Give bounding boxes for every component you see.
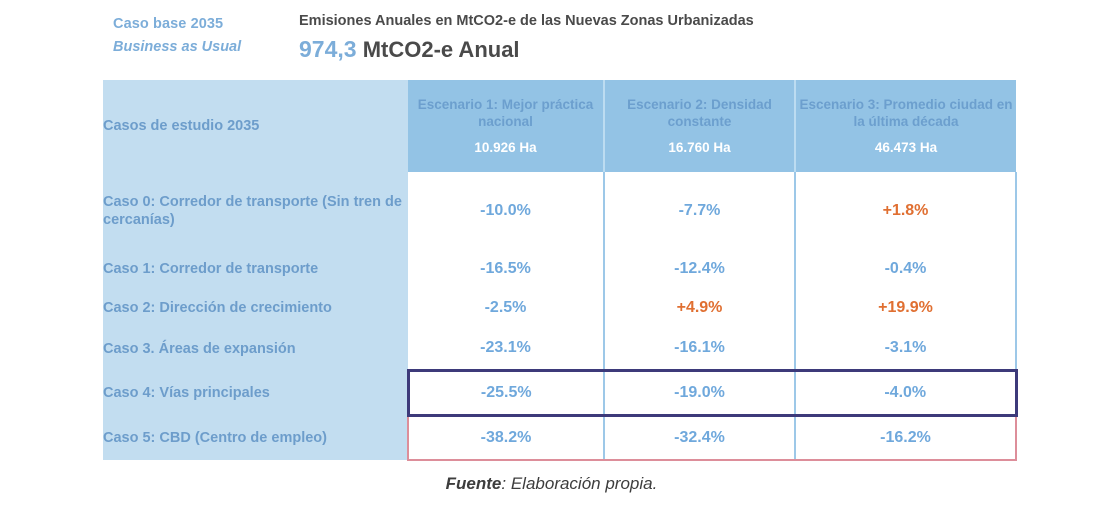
table-row: Caso 2: Dirección de crecimiento-2.5%+4.…	[103, 289, 1016, 328]
scenarios-table-wrapper: Casos de estudio 2035 Escenario 1: Mejor…	[103, 80, 1016, 461]
value-cell: -2.5%	[408, 289, 604, 328]
column-header-area: 10.926 Ha	[408, 139, 603, 156]
row-label: Caso 1: Corredor de transporte	[103, 250, 408, 289]
value-cell: -25.5%	[408, 370, 604, 415]
value-cell: -0.4%	[795, 250, 1016, 289]
row-label: Caso 0: Corredor de transporte (Sin tren…	[103, 172, 408, 250]
source-text: : Elaboración propia.	[501, 474, 657, 493]
value-cell: +4.9%	[604, 289, 795, 328]
title-block: Emisiones Anuales en MtCO2-e de las Nuev…	[295, 10, 1013, 68]
table-header-row: Casos de estudio 2035 Escenario 1: Mejor…	[103, 80, 1016, 172]
value-cell: -12.4%	[604, 250, 795, 289]
source-note: Fuente: Elaboración propia.	[0, 474, 1103, 494]
column-header-area: 46.473 Ha	[796, 139, 1016, 156]
column-header-escenario-1: Escenario 1: Mejor práctica nacional 10.…	[408, 80, 604, 172]
row-label: Caso 3. Áreas de expansión	[103, 328, 408, 370]
source-label: Fuente	[446, 474, 502, 493]
column-header-name: Escenario 3: Promedio ciudad en la últim…	[796, 96, 1016, 130]
baseline-value: 974,3	[299, 36, 357, 62]
baseline-value-line: 974,3 MtCO2-e Anual	[299, 32, 1013, 68]
value-cell: -3.1%	[795, 328, 1016, 370]
value-cell: -16.2%	[795, 416, 1016, 460]
column-header-name: Escenario 1: Mejor práctica nacional	[408, 96, 603, 130]
base-case-sublabel: Business as Usual	[113, 36, 295, 59]
column-header-escenario-3: Escenario 3: Promedio ciudad en la últim…	[795, 80, 1016, 172]
value-cell: +19.9%	[795, 289, 1016, 328]
row-header-corner-label: Casos de estudio 2035	[103, 80, 408, 172]
table-row: Caso 3. Áreas de expansión-23.1%-16.1%-3…	[103, 328, 1016, 370]
row-label: Caso 4: Vías principales	[103, 370, 408, 415]
base-case-block: Caso base 2035 Business as Usual	[113, 10, 295, 59]
table-row: Caso 1: Corredor de transporte-16.5%-12.…	[103, 250, 1016, 289]
base-case-label: Caso base 2035	[113, 13, 295, 36]
value-cell: -16.5%	[408, 250, 604, 289]
value-cell: +1.8%	[795, 172, 1016, 250]
value-cell: -7.7%	[604, 172, 795, 250]
value-cell: -4.0%	[795, 370, 1016, 415]
value-cell: -10.0%	[408, 172, 604, 250]
figure-root: Caso base 2035 Business as Usual Emision…	[0, 0, 1103, 526]
scenarios-table: Casos de estudio 2035 Escenario 1: Mejor…	[103, 80, 1018, 461]
value-cell: -32.4%	[604, 416, 795, 460]
table-row: Caso 4: Vías principales-25.5%-19.0%-4.0…	[103, 370, 1016, 415]
value-cell: -38.2%	[408, 416, 604, 460]
table-row: Caso 0: Corredor de transporte (Sin tren…	[103, 172, 1016, 250]
column-header-name: Escenario 2: Densidad constante	[605, 96, 794, 130]
value-cell: -19.0%	[604, 370, 795, 415]
table-row: Caso 5: CBD (Centro de empleo)-38.2%-32.…	[103, 416, 1016, 460]
baseline-unit: MtCO2-e Anual	[363, 37, 520, 62]
page-title: Emisiones Anuales en MtCO2-e de las Nuev…	[299, 10, 1013, 32]
row-label: Caso 5: CBD (Centro de empleo)	[103, 416, 408, 460]
value-cell: -16.1%	[604, 328, 795, 370]
column-header-escenario-2: Escenario 2: Densidad constante 16.760 H…	[604, 80, 795, 172]
row-label: Caso 2: Dirección de crecimiento	[103, 289, 408, 328]
figure-header: Caso base 2035 Business as Usual Emision…	[113, 10, 1013, 72]
value-cell: -23.1%	[408, 328, 604, 370]
column-header-area: 16.760 Ha	[605, 139, 794, 156]
